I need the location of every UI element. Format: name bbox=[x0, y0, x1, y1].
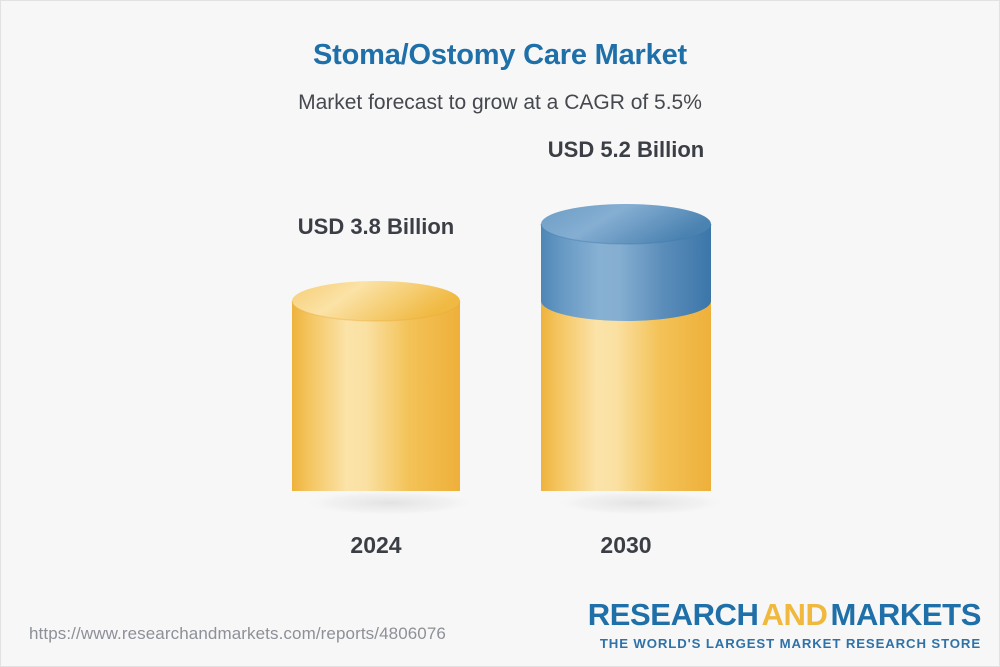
report-url[interactable]: https://www.researchandmarkets.com/repor… bbox=[29, 624, 446, 644]
plot-area: USD 3.8 Billion bbox=[1, 1, 1000, 601]
cylinder-bar-2030 bbox=[541, 204, 711, 511]
logo-word-research: RESEARCH bbox=[588, 597, 759, 632]
logo-word-and: AND bbox=[759, 597, 831, 632]
bar-value-label-2024: USD 3.8 Billion bbox=[298, 214, 454, 240]
cylinder-segment-gold-2030 bbox=[541, 301, 711, 491]
cylinder-body-2024 bbox=[292, 301, 460, 491]
bar-group-2030: USD 5.2 Billion bbox=[541, 204, 711, 511]
bar-category-label-2024: 2024 bbox=[350, 532, 401, 559]
bar-category-label-2030: 2030 bbox=[600, 532, 651, 559]
logo-wordmark: RESEARCHANDMARKETS bbox=[588, 599, 981, 630]
bar-value-label-2030: USD 5.2 Billion bbox=[548, 137, 704, 163]
infographic-canvas: Stoma/Ostomy Care Market Market forecast… bbox=[0, 0, 1000, 667]
logo-word-markets: MARKETS bbox=[831, 597, 981, 632]
bar-group-2024: USD 3.8 Billion bbox=[292, 281, 460, 511]
research-and-markets-logo[interactable]: RESEARCHANDMARKETS THE WORLD'S LARGEST M… bbox=[588, 599, 981, 650]
bar-shadow-2024 bbox=[302, 490, 478, 516]
cylinder-bar-2024 bbox=[292, 281, 460, 511]
bar-shadow-2030 bbox=[551, 490, 729, 516]
logo-tagline: THE WORLD'S LARGEST MARKET RESEARCH STOR… bbox=[588, 637, 981, 650]
